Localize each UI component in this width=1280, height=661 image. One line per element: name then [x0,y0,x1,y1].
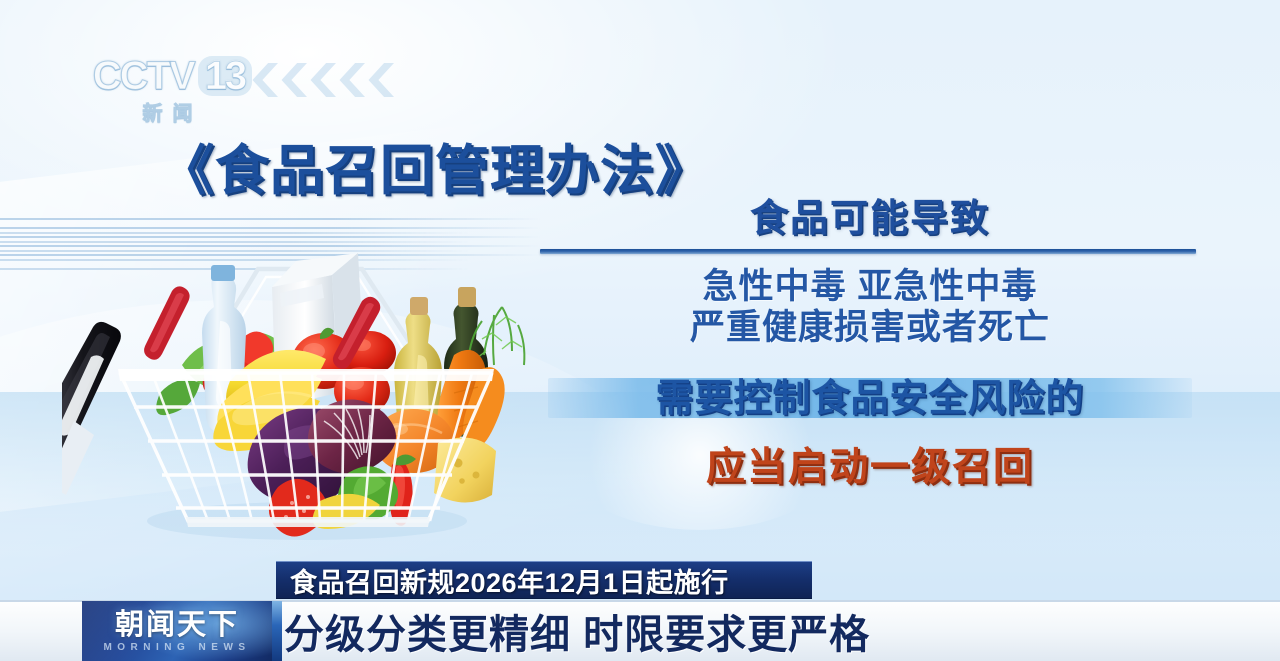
cctv-logo-text: CCTV [93,56,194,96]
chevron-left-icon [368,63,394,97]
info-panel-conclusion: 应当启动一级召回 [540,436,1200,492]
program-logo-en: MORNING NEWS [103,642,250,653]
chevron-left-icon [339,63,365,97]
lower-third-headline: 分级分类更精细 时限要求更严格 [284,600,1280,661]
cctv-channel-number: 13 [198,56,253,96]
headline-accent-strip [272,601,282,661]
chevron-left-icon [252,63,278,97]
cctv-channel-subtitle: 新闻 [143,97,203,126]
info-panel-highlight: 需要控制食品安全风险的 [540,368,1200,420]
info-panel-body: 急性中毒 亚急性中毒 严重健康损害或者死亡 [540,266,1200,348]
program-logo-cn: 朝闻天下 [115,610,239,641]
chevron-decoration [252,63,394,97]
page-title: 《食品召回管理办法》 [160,126,710,205]
info-body-line-1: 急性中毒 亚急性中毒 [540,266,1200,307]
info-body-line-2: 严重健康损害或者死亡 [540,307,1200,348]
program-logo: 朝闻天下 MORNING NEWS [82,601,272,661]
shopping-basket-illustration [62,225,532,550]
cctv-channel-logo: CCTV13 新闻 [80,56,265,118]
highlight-bar-text: 需要控制食品安全风险的 [655,367,1084,422]
lower-third-headline-text: 分级分类更精细 时限要求更严格 [284,602,870,660]
broadcast-frame: CCTV13 新闻 《食品召回管理办法》 [0,0,1280,661]
chevron-left-icon [281,63,307,97]
cctv-wordmark: CCTV13 [93,56,252,96]
info-panel-divider [540,249,1196,254]
chevron-left-icon [310,63,336,97]
lower-third-subhead-bar: 食品召回新规2026年12月1日起施行 [276,561,812,599]
info-panel-heading: 食品可能导致 [540,196,1200,242]
info-panel: 食品可能导致 急性中毒 亚急性中毒 严重健康损害或者死亡 需要控制食品安全风险的… [540,196,1200,492]
lower-third-subhead-text: 食品召回新规2026年12月1日起施行 [276,561,729,600]
